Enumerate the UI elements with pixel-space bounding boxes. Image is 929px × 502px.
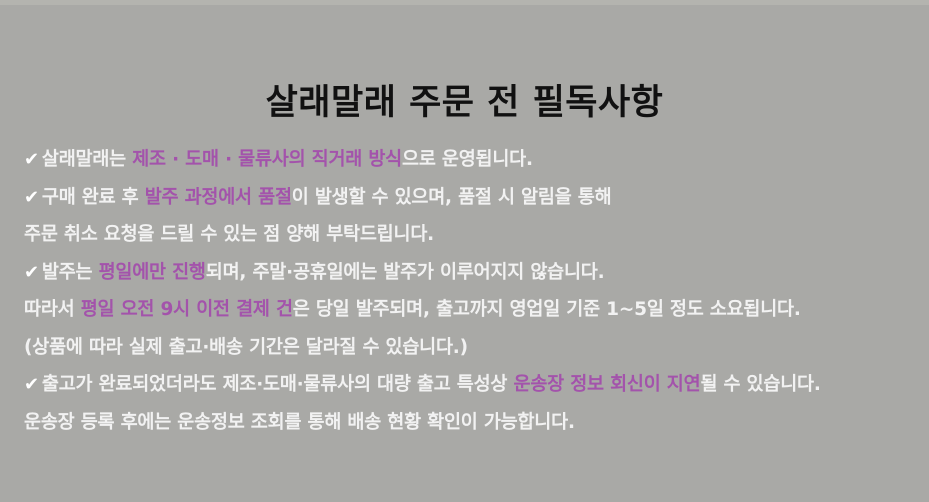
- highlighted-text: 평일 오전 9시 이전 결제 건: [81, 299, 293, 320]
- check-icon: ✔: [24, 374, 42, 395]
- notice-line: 따라서 평일 오전 9시 이전 결제 건은 당일 발주되며, 출고까지 영업일 …: [24, 291, 924, 329]
- notice-line: (상품에 따라 실제 출고·배송 기간은 달라질 수 있습니다.): [24, 329, 924, 367]
- notice-line: ✔출고가 완료되었더라도 제조·도매·물류사의 대량 출고 특성상 운송장 정보…: [24, 366, 924, 404]
- body-text: 발주는: [42, 262, 99, 283]
- notice-line: 주문 취소 요청을 드릴 수 있는 점 양해 부탁드립니다.: [24, 216, 924, 254]
- notice-card: 살래말래 주문 전 필독사항 ✔살래말래는 제조 · 도매 · 물류사의 직거래…: [0, 0, 929, 502]
- body-text: 따라서: [24, 299, 81, 320]
- top-edge-band: [0, 0, 929, 5]
- body-text: 은 당일 발주되며, 출고까지 영업일 기준 1~5일 정도 소요됩니다.: [293, 299, 801, 320]
- highlighted-text: 발주 과정에서 품절: [145, 187, 292, 208]
- notice-line: ✔구매 완료 후 발주 과정에서 품절이 발생할 수 있으며, 품절 시 알림을…: [24, 179, 924, 217]
- body-text: 될 수 있습니다.: [700, 374, 820, 395]
- body-text: 으로 운영됩니다.: [402, 149, 533, 170]
- check-icon: ✔: [24, 262, 42, 283]
- body-text: 되며, 주말·공휴일에는 발주가 이루어지지 않습니다.: [206, 262, 605, 283]
- body-text: 주문 취소 요청을 드릴 수 있는 점 양해 부탁드립니다.: [24, 224, 434, 245]
- check-icon: ✔: [24, 187, 42, 208]
- body-text: 구매 완료 후: [42, 187, 145, 208]
- body-text: 운송장 등록 후에는 운송정보 조회를 통해 배송 현황 확인이 가능합니다.: [24, 412, 575, 433]
- highlighted-text: 제조 · 도매 · 물류사의 직거래 방식: [132, 149, 402, 170]
- highlighted-text: 평일에만 진행: [99, 262, 206, 283]
- notice-body: ✔살래말래는 제조 · 도매 · 물류사의 직거래 방식으로 운영됩니다.✔구매…: [24, 141, 924, 441]
- highlighted-text: 운송장 정보 회신이 지연: [514, 374, 701, 395]
- body-text: 살래말래는: [42, 149, 132, 170]
- body-text: 출고가 완료되었더라도 제조·도매·물류사의 대량 출고 특성상: [42, 374, 514, 395]
- body-text: (상품에 따라 실제 출고·배송 기간은 달라질 수 있습니다.): [24, 337, 468, 358]
- page-title: 살래말래 주문 전 필독사항: [0, 81, 929, 125]
- notice-line: 운송장 등록 후에는 운송정보 조회를 통해 배송 현황 확인이 가능합니다.: [24, 404, 924, 442]
- body-text: 이 발생할 수 있으며, 품절 시 알림을 통해: [292, 187, 612, 208]
- check-icon: ✔: [24, 149, 42, 170]
- notice-line: ✔살래말래는 제조 · 도매 · 물류사의 직거래 방식으로 운영됩니다.: [24, 141, 924, 179]
- notice-line: ✔발주는 평일에만 진행되며, 주말·공휴일에는 발주가 이루어지지 않습니다.: [24, 254, 924, 292]
